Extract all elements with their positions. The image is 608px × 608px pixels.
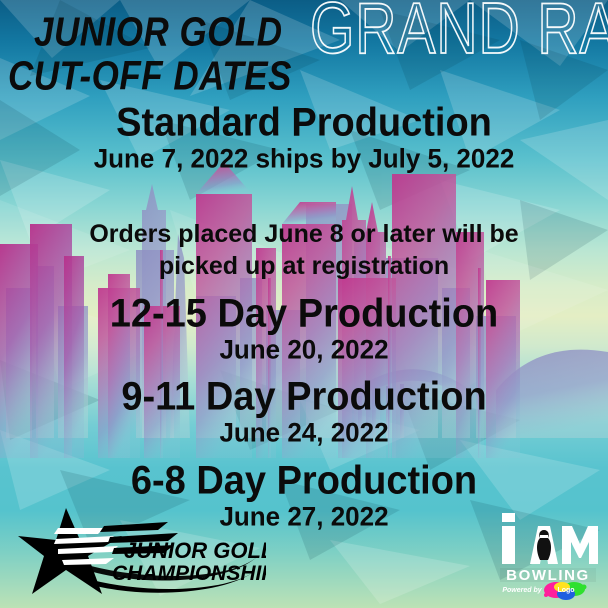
section-title: 6-8 Day Production [0, 461, 608, 502]
section-title: 12-15 Day Production [0, 294, 608, 335]
junior-gold-wordmark: JUNIOR GOLD [124, 538, 266, 563]
section-title: 9-11 Day Production [0, 377, 608, 418]
section-title: Standard Production [0, 103, 608, 144]
pickup-note-line-2: picked up at registration [0, 250, 608, 282]
section-detail: June 7, 2022 ships by July 5, 2022 [0, 144, 608, 172]
pickup-note: Orders placed June 8 or later will be pi… [0, 218, 608, 282]
section-nine-eleven-day-production: 9-11 Day Production June 24, 2022 [0, 378, 608, 446]
poster-canvas: GRAND RAPIDS JUNIOR GOLD CUT-OFF DATES S… [0, 0, 608, 608]
bowling-wordmark: BOWLING [506, 567, 590, 584]
logo-infusion-mark: Logo [544, 582, 587, 600]
junior-gold-championships-logo: JUNIOR GOLD CHAMPIONSHIPS [18, 506, 266, 602]
championships-wordmark: CHAMPIONSHIPS [112, 562, 266, 585]
section-twelve-fifteen-day-production: 12-15 Day Production June 20, 2022 [0, 295, 608, 363]
header-line-2: CUT-OFF DATES [8, 56, 292, 97]
header-line-1: JUNIOR GOLD [34, 12, 283, 53]
pickup-note-line-1: Orders placed June 8 or later will be [0, 218, 608, 250]
city-name: GRAND RAPIDS [310, 0, 608, 66]
section-detail: June 20, 2022 [0, 335, 608, 363]
logo-infusion-label: Logo [557, 587, 574, 594]
header: GRAND RAPIDS JUNIOR GOLD CUT-OFF DATES [0, 0, 608, 98]
section-standard-production: Standard Production June 7, 2022 ships b… [0, 104, 608, 172]
powered-by-label: Powered by [502, 587, 542, 594]
iam-bowling-logo: BOWLING Powered by Logo [496, 504, 600, 600]
section-detail: June 24, 2022 [0, 418, 608, 446]
